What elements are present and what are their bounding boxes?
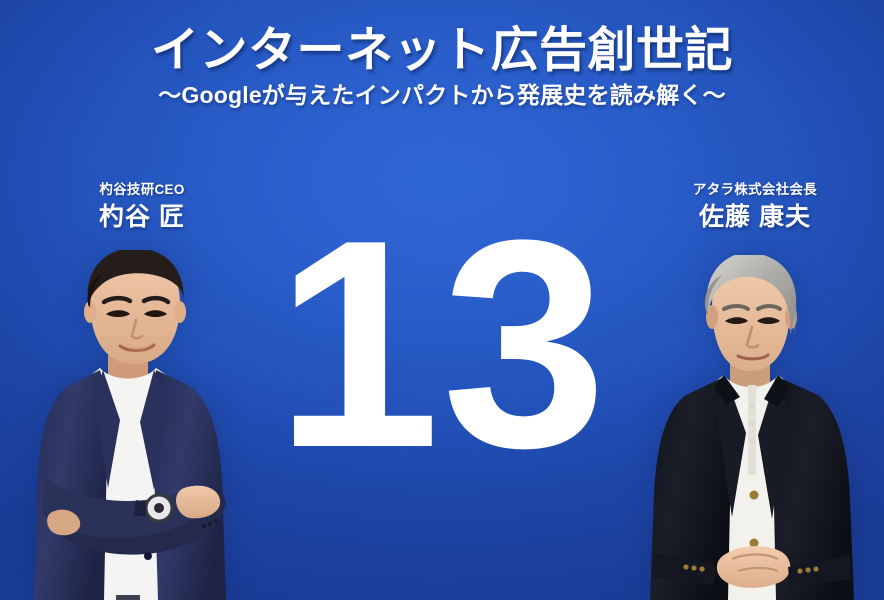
page-title: インターネット広告創世記 [0, 26, 884, 77]
speaker-right-photo [628, 255, 878, 600]
speaker-left-photo [8, 250, 258, 600]
page-subtitle: 〜Googleが与えたインパクトから発展史を読み解く〜 [0, 83, 884, 108]
title-block: インターネット広告創世記 〜Googleが与えたインパクトから発展史を読み解く〜 [0, 26, 884, 108]
speaker-left-role: 杓谷技研CEO [0, 182, 292, 198]
speaker-right-role: アタラ株式会社会長 [605, 182, 884, 198]
presentation-slide: インターネット広告創世記 〜Googleが与えたインパクトから発展史を読み解く〜… [0, 0, 884, 600]
speaker-left-label: 杓谷技研CEO 杓谷 匠 [0, 182, 292, 232]
speaker-right-name: 佐藤 康夫 [605, 203, 884, 232]
speaker-right-label: アタラ株式会社会長 佐藤 康夫 [605, 182, 884, 232]
speaker-left-name: 杓谷 匠 [0, 203, 292, 232]
